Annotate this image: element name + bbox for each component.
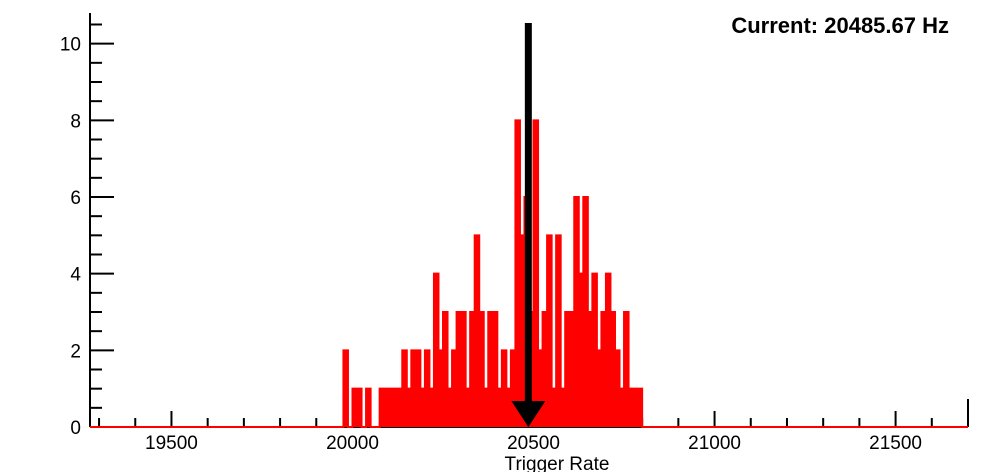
x-axis-tick-label: 21000 (688, 433, 741, 454)
x-axis-tick-label: 19500 (145, 433, 198, 454)
x-axis-tick-labels: 1950020000205002100021500 (145, 433, 922, 454)
y-axis-tick-label: 6 (70, 188, 81, 209)
x-axis-tick-label: 21500 (869, 433, 922, 454)
root-canvas: 0246810 1950020000205002100021500 Trigge… (0, 0, 996, 472)
x-axis-title: Trigger Rate (505, 454, 610, 472)
y-axis-tick-labels: 0246810 (60, 35, 82, 439)
y-axis-tick-label: 8 (70, 111, 81, 132)
histogram-plot: 0246810 1950020000205002100021500 Trigge… (0, 0, 996, 472)
plot-title: Current: 20485.67 Hz (731, 13, 949, 38)
y-axis-tick-label: 4 (70, 265, 81, 286)
y-axis-tick-label: 0 (70, 418, 81, 439)
x-axis-tick-label: 20500 (507, 433, 560, 454)
y-axis-tick-label: 2 (70, 341, 81, 362)
y-axis-tick-label: 10 (60, 35, 81, 56)
x-axis-tick-label: 20000 (326, 433, 379, 454)
